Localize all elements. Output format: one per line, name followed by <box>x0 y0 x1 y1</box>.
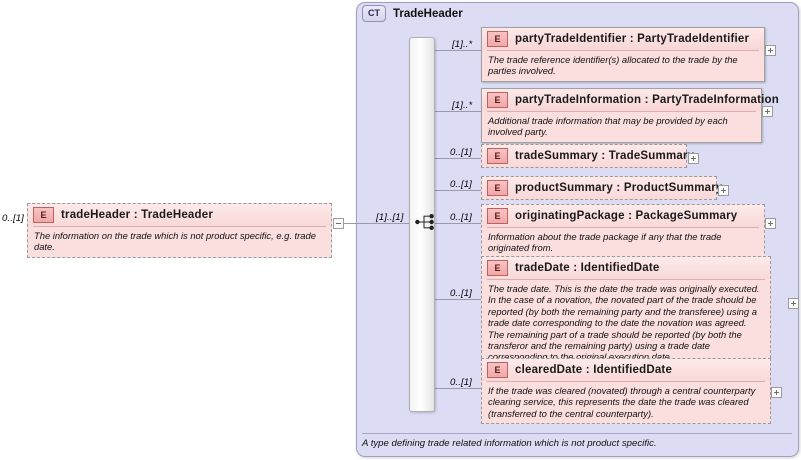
element-box-tradesummary[interactable]: E tradeSummary : TradeSummary <box>481 144 687 168</box>
element-header: E tradeSummary : TradeSummary <box>482 145 686 167</box>
schema-diagram-canvas: CT TradeHeader A type defining trade rel… <box>0 0 801 460</box>
connector-line-element-4 <box>435 223 481 224</box>
element-name: partyTradeIdentifier : PartyTradeIdentif… <box>515 33 749 45</box>
element-name: originatingPackage : PackageSummary <box>515 210 737 222</box>
connector-line-element-0 <box>435 50 481 51</box>
element-header: E originatingPackage : PackageSummary <box>482 205 764 227</box>
element-box-productsummary[interactable]: E productSummary : ProductSummary <box>481 176 717 200</box>
element-badge-icon: E <box>487 31 508 47</box>
connector-line-element-5 <box>435 299 481 300</box>
element-box-cleareddate[interactable]: E clearedDate : IdentifiedDate If the tr… <box>481 358 771 424</box>
expand-plus-button-partytradeidentifier[interactable] <box>765 45 776 56</box>
element-cardinality-6: 0..[1] <box>450 377 472 388</box>
element-description: The information on the trade which is no… <box>33 226 326 257</box>
element-box-partytradeinformation[interactable]: E partyTradeInformation : PartyTradeInfo… <box>481 88 762 143</box>
complextype-badge-icon: CT <box>362 5 386 22</box>
reference-cardinality: 0..[1] <box>2 213 24 224</box>
element-cardinality-4: 0..[1] <box>450 212 472 223</box>
element-badge-icon: E <box>487 208 508 224</box>
element-badge-icon: E <box>487 92 508 108</box>
element-description: Information about the trade package if a… <box>487 227 759 258</box>
element-name: tradeSummary : TradeSummary <box>515 150 694 162</box>
element-description: If the trade was cleared (novated) throu… <box>487 381 765 423</box>
expand-plus-button-originatingpackage[interactable] <box>765 218 776 229</box>
expand-plus-button-cleareddate[interactable] <box>771 387 782 398</box>
element-description: The trade reference identifier(s) alloca… <box>487 50 759 81</box>
element-cardinality-3: 0..[1] <box>450 179 472 190</box>
element-name: partyTradeInformation : PartyTradeInform… <box>515 94 779 106</box>
element-badge-icon: E <box>487 148 508 164</box>
element-box-partytradeidentifier[interactable]: E partyTradeIdentifier : PartyTradeIdent… <box>481 27 765 82</box>
expand-plus-button-tradesummary[interactable] <box>688 153 699 164</box>
connector-line-element-1 <box>435 111 481 112</box>
connector-line-element-2 <box>435 158 481 159</box>
expand-plus-button-productsummary[interactable] <box>718 185 729 196</box>
collapse-minus-button-tradeheader[interactable] <box>333 218 344 229</box>
complextype-footer-description: A type defining trade related informatio… <box>362 433 792 449</box>
element-header: E partyTradeInformation : PartyTradeInfo… <box>482 89 761 111</box>
sequence-cardinality: [1]..[1] <box>376 212 403 223</box>
connector-line-element-6 <box>435 388 481 389</box>
element-box-tradedate[interactable]: E tradeDate : IdentifiedDate The trade d… <box>481 256 771 368</box>
connector-line-element-3 <box>435 190 481 191</box>
element-header: E tradeDate : IdentifiedDate <box>482 257 770 279</box>
element-header: E partyTradeIdentifier : PartyTradeIdent… <box>482 28 764 50</box>
element-description: The trade date. This is the date the tra… <box>487 279 765 367</box>
element-badge-icon: E <box>487 362 508 378</box>
sequence-compositor-icon[interactable] <box>415 214 437 230</box>
expand-plus-button-tradedate[interactable] <box>788 298 799 309</box>
element-box-tradeheader-reference[interactable]: E tradeHeader : TradeHeader The informat… <box>27 203 332 258</box>
connector-line-reference-to-sequence <box>344 223 410 224</box>
element-cardinality-2: 0..[1] <box>450 147 472 158</box>
element-badge-icon: E <box>487 260 508 276</box>
element-name: tradeDate : IdentifiedDate <box>515 262 660 274</box>
element-header: E productSummary : ProductSummary <box>482 177 716 199</box>
complextype-title: CT TradeHeader <box>362 5 463 22</box>
element-name: tradeHeader : TradeHeader <box>61 209 213 221</box>
element-name: clearedDate : IdentifiedDate <box>515 364 672 376</box>
element-header: E clearedDate : IdentifiedDate <box>482 359 770 381</box>
element-cardinality-1: [1]..* <box>452 100 472 111</box>
complextype-name: TradeHeader <box>393 8 463 20</box>
element-cardinality-0: [1]..* <box>452 39 472 50</box>
expand-plus-button-partytradeinformation[interactable] <box>762 106 773 117</box>
element-description: Additional trade information that may be… <box>487 111 756 142</box>
element-box-originatingpackage[interactable]: E originatingPackage : PackageSummary In… <box>481 204 765 259</box>
element-name: productSummary : ProductSummary <box>515 182 723 194</box>
element-cardinality-5: 0..[1] <box>450 288 472 299</box>
element-badge-icon: E <box>487 180 508 196</box>
element-badge-icon: E <box>33 207 54 223</box>
element-header: E tradeHeader : TradeHeader <box>28 204 331 226</box>
